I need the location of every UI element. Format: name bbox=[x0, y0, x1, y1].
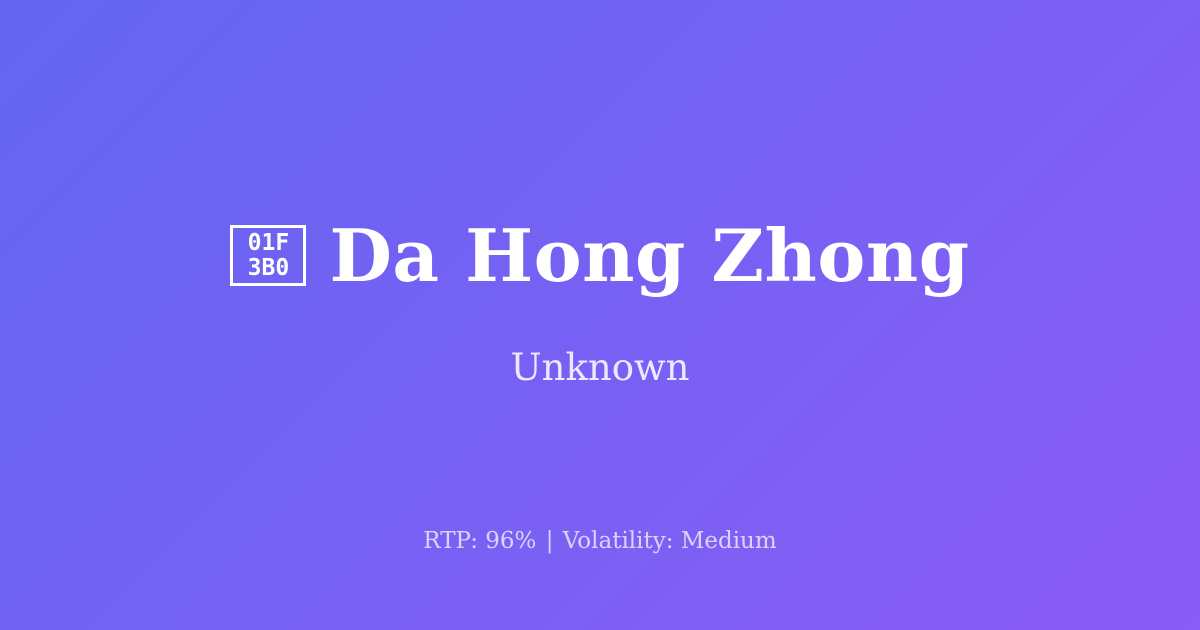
og-card: 01F 3B0 Da Hong Zhong Unknown RTP: 96% |… bbox=[0, 0, 1200, 630]
rtp-value: 96% bbox=[485, 528, 536, 554]
volatility-label: Volatility: bbox=[563, 528, 674, 554]
rtp-label: RTP: bbox=[423, 528, 478, 554]
volatility-value: Medium bbox=[681, 528, 777, 554]
tofu-codepoint-row-top: 01F bbox=[248, 231, 290, 256]
page-title: Da Hong Zhong bbox=[329, 218, 969, 294]
meta-footer: RTP: 96% | Volatility: Medium bbox=[0, 528, 1200, 556]
meta-separator: | bbox=[544, 528, 556, 554]
provider-label: Unknown bbox=[510, 346, 689, 390]
tofu-codepoint-row-bottom: 3B0 bbox=[248, 256, 290, 281]
slot-machine-icon: 01F 3B0 bbox=[230, 225, 306, 286]
title-row: 01F 3B0 Da Hong Zhong bbox=[0, 218, 1200, 294]
